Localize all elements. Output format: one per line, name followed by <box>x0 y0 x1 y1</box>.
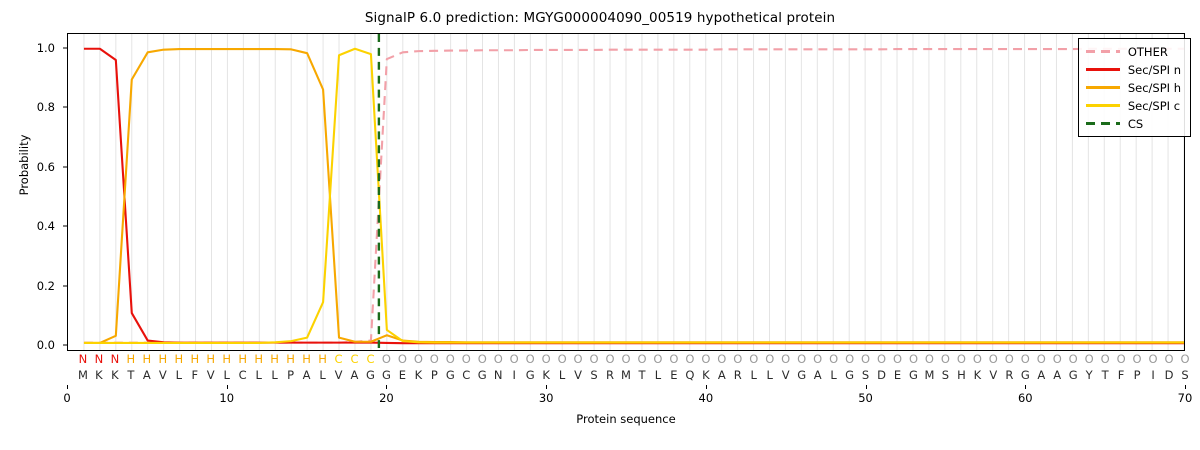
residue-label: K <box>974 367 982 384</box>
state-label: O <box>1069 351 1078 368</box>
state-label: O <box>989 351 998 368</box>
x-tick-label: 0 <box>63 391 70 405</box>
residue-label: I <box>512 367 515 384</box>
state-label: O <box>781 351 790 368</box>
residue-label: A <box>1053 367 1061 384</box>
legend-swatch-sec-spi-n <box>1086 68 1120 70</box>
legend-label-sec-spi-h: Sec/SPI h <box>1128 81 1181 95</box>
state-label: H <box>270 351 279 368</box>
state-label: N <box>111 351 120 368</box>
residue-label: A <box>143 367 151 384</box>
state-label: O <box>398 351 407 368</box>
state-label: H <box>174 351 183 368</box>
state-label: O <box>1037 351 1046 368</box>
residue-label: T <box>1102 367 1109 384</box>
x-tick-label: 30 <box>539 391 554 405</box>
residue-label: A <box>303 367 311 384</box>
state-label: O <box>382 351 391 368</box>
x-tick-mark <box>1025 385 1026 389</box>
state-label: O <box>941 351 950 368</box>
state-label: O <box>526 351 535 368</box>
residue-label: K <box>542 367 550 384</box>
residue-label: M <box>621 367 631 384</box>
legend-item-other: OTHER <box>1086 44 1181 59</box>
residue-label: C <box>462 367 470 384</box>
state-label: O <box>1101 351 1110 368</box>
state-label: O <box>877 351 886 368</box>
state-label: O <box>733 351 742 368</box>
residue-label: P <box>1134 367 1141 384</box>
legend-swatch-sec-spi-c <box>1086 104 1120 106</box>
residue-label: G <box>909 367 918 384</box>
state-label: O <box>590 351 599 368</box>
y-tick-label: 0.4 <box>37 219 55 233</box>
state-label: O <box>1149 351 1158 368</box>
legend-label-sec-spi-n: Sec/SPI n <box>1128 63 1181 77</box>
residue-label: V <box>335 367 343 384</box>
residue-label: P <box>431 367 438 384</box>
y-tick-label: 0.8 <box>37 100 55 114</box>
residue-label: S <box>862 367 869 384</box>
x-tick-mark <box>866 385 867 389</box>
residue-label: G <box>382 367 391 384</box>
residue-label: A <box>1037 367 1045 384</box>
state-label: O <box>669 351 678 368</box>
state-label: O <box>558 351 567 368</box>
residue-label: L <box>176 367 182 384</box>
state-label: H <box>206 351 215 368</box>
legend-item-sec-spi-h: Sec/SPI h <box>1086 80 1181 95</box>
residue-label: F <box>1118 367 1125 384</box>
residue-label: C <box>239 367 247 384</box>
cleavage-site-marker <box>68 34 1184 350</box>
residue-label: S <box>1181 367 1188 384</box>
state-label: O <box>845 351 854 368</box>
legend-label-sec-spi-c: Sec/SPI c <box>1128 99 1180 113</box>
state-label: O <box>1053 351 1062 368</box>
state-label: O <box>478 351 487 368</box>
state-label: O <box>1021 351 1030 368</box>
state-label: O <box>462 351 471 368</box>
state-label: O <box>829 351 838 368</box>
x-axis-label: Protein sequence <box>67 412 1185 426</box>
x-tick-label: 60 <box>1018 391 1033 405</box>
state-label: O <box>542 351 551 368</box>
x-tick-label: 40 <box>699 391 714 405</box>
x-tick-label: 20 <box>379 391 394 405</box>
legend-label-other: OTHER <box>1128 45 1168 59</box>
state-label: O <box>1005 351 1014 368</box>
x-tick-mark <box>227 385 228 389</box>
residue-label: G <box>478 367 487 384</box>
y-tick-label: 1.0 <box>37 41 55 55</box>
state-label: O <box>1117 351 1126 368</box>
state-label: H <box>286 351 295 368</box>
legend-item-sec-spi-c: Sec/SPI c <box>1086 98 1181 113</box>
legend: OTHER Sec/SPI n Sec/SPI h Sec/SPI c CS <box>1078 38 1191 137</box>
x-tick-mark <box>706 385 707 389</box>
plot-area <box>67 33 1185 351</box>
state-label: O <box>957 351 966 368</box>
residue-label: Y <box>1086 367 1093 384</box>
residue-label: F <box>191 367 198 384</box>
legend-label-cs: CS <box>1128 117 1143 131</box>
state-label: N <box>79 351 88 368</box>
state-label: O <box>510 351 519 368</box>
residue-label: R <box>606 367 614 384</box>
state-label: H <box>222 351 231 368</box>
x-tick-mark <box>386 385 387 389</box>
x-tick-label: 70 <box>1178 391 1193 405</box>
residue-label: S <box>942 367 949 384</box>
residue-label: K <box>702 367 710 384</box>
state-label: O <box>494 351 503 368</box>
state-label: O <box>653 351 662 368</box>
legend-swatch-sec-spi-h <box>1086 86 1120 88</box>
x-tick-label: 10 <box>219 391 234 405</box>
state-row: NNNHHHHHHHHHHHHHCCCOOOOOOOOOOOOOOOOOOOOO… <box>67 351 1185 368</box>
state-label: C <box>334 351 342 368</box>
y-axis-label: Probability <box>17 45 31 285</box>
state-label: O <box>909 351 918 368</box>
state-label: O <box>621 351 630 368</box>
residue-label: L <box>223 367 229 384</box>
residue-label: G <box>845 367 854 384</box>
state-label: O <box>1164 351 1173 368</box>
residue-label: E <box>670 367 677 384</box>
sequence-annotation: NNNHHHHHHHHHHHHHCCCOOOOOOOOOOOOOOOOOOOOO… <box>67 351 1185 385</box>
x-tick-mark <box>546 385 547 389</box>
state-label: O <box>1085 351 1094 368</box>
residue-label: L <box>559 367 565 384</box>
page-title: SignalP 6.0 prediction: MGYG000004090_00… <box>0 10 1200 26</box>
state-label: C <box>366 351 374 368</box>
residue-label: G <box>1069 367 1078 384</box>
state-label: O <box>925 351 934 368</box>
residue-label: L <box>255 367 261 384</box>
residue-label: S <box>590 367 597 384</box>
state-label: O <box>685 351 694 368</box>
state-label: O <box>765 351 774 368</box>
residue-label: K <box>95 367 103 384</box>
state-label: O <box>446 351 455 368</box>
residue-label: G <box>797 367 806 384</box>
state-label: H <box>318 351 327 368</box>
residue-label: E <box>399 367 406 384</box>
state-label: O <box>574 351 583 368</box>
residue-label: K <box>111 367 119 384</box>
residue-label: L <box>767 367 773 384</box>
residue-label: K <box>415 367 423 384</box>
y-tick-label: 0.0 <box>37 338 55 352</box>
residue-label: M <box>78 367 88 384</box>
residue-label: G <box>526 367 535 384</box>
x-tick-mark <box>67 385 68 389</box>
residue-label: D <box>1165 367 1174 384</box>
residue-label: L <box>271 367 277 384</box>
state-label: H <box>127 351 136 368</box>
residue-label: V <box>989 367 997 384</box>
state-label: O <box>1180 351 1189 368</box>
residue-label: V <box>207 367 215 384</box>
residue-label: I <box>1151 367 1154 384</box>
state-label: O <box>813 351 822 368</box>
residue-label: L <box>830 367 836 384</box>
residue-label: H <box>957 367 966 384</box>
residue-label: P <box>287 367 294 384</box>
residue-label: R <box>1005 367 1013 384</box>
state-label: H <box>254 351 263 368</box>
state-label: H <box>190 351 199 368</box>
state-label: N <box>95 351 104 368</box>
legend-item-sec-spi-n: Sec/SPI n <box>1086 62 1181 77</box>
state-label: O <box>430 351 439 368</box>
residue-label: V <box>574 367 582 384</box>
state-label: O <box>893 351 902 368</box>
residue-label: V <box>159 367 167 384</box>
y-tick-label: 0.2 <box>37 279 55 293</box>
residue-label: A <box>718 367 726 384</box>
residue-label: T <box>127 367 134 384</box>
state-label: H <box>238 351 247 368</box>
state-label: O <box>797 351 806 368</box>
residue-label: A <box>351 367 359 384</box>
residue-label: V <box>782 367 790 384</box>
state-label: O <box>637 351 646 368</box>
legend-swatch-cs <box>1086 122 1120 124</box>
y-axis: 0.00.20.40.60.81.0 Probability <box>0 33 67 351</box>
state-label: O <box>414 351 423 368</box>
y-tick-label: 0.6 <box>37 160 55 174</box>
state-label: H <box>143 351 152 368</box>
residue-label: T <box>638 367 645 384</box>
residue-label: M <box>924 367 934 384</box>
state-label: O <box>749 351 758 368</box>
residue-label: A <box>814 367 822 384</box>
residue-label: R <box>734 367 742 384</box>
state-label: H <box>159 351 168 368</box>
residue-label: G <box>1021 367 1030 384</box>
residue-label: L <box>751 367 757 384</box>
residue-label: G <box>446 367 455 384</box>
state-label: O <box>973 351 982 368</box>
state-label: H <box>302 351 311 368</box>
state-label: C <box>350 351 358 368</box>
amino-acid-row: MKKTAVLFVLCLLPALVAGGEKPGCGNIGKLVSRMTLEQK… <box>67 367 1185 384</box>
x-axis: 010203040506070 <box>67 385 1185 415</box>
signalp-prediction-figure: SignalP 6.0 prediction: MGYG000004090_00… <box>0 0 1200 450</box>
residue-label: N <box>494 367 503 384</box>
state-label: O <box>605 351 614 368</box>
legend-item-cs: CS <box>1086 116 1181 131</box>
x-tick-mark <box>1185 385 1186 389</box>
residue-label: L <box>655 367 661 384</box>
residue-label: L <box>319 367 325 384</box>
residue-label: D <box>877 367 886 384</box>
state-label: O <box>861 351 870 368</box>
residue-label: Q <box>685 367 694 384</box>
state-label: O <box>1133 351 1142 368</box>
state-label: O <box>717 351 726 368</box>
legend-swatch-other <box>1086 50 1120 52</box>
residue-label: E <box>894 367 901 384</box>
residue-label: G <box>366 367 375 384</box>
x-tick-label: 50 <box>858 391 873 405</box>
state-label: O <box>701 351 710 368</box>
